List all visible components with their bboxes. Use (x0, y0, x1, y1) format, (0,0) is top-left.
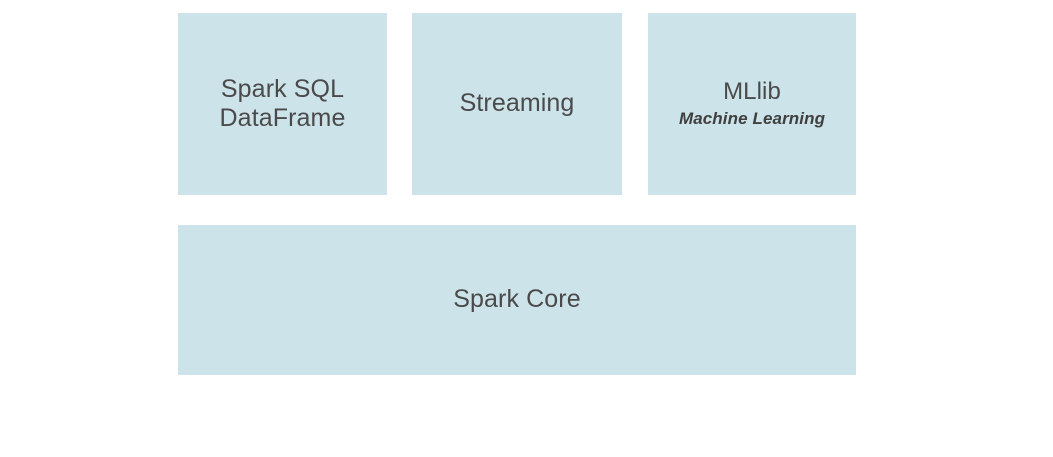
component-box-mllib[interactable]: MLlib Machine Learning (648, 13, 856, 195)
component-title-mllib: MLlib (723, 79, 781, 105)
component-box-streaming[interactable]: Streaming (412, 13, 622, 195)
component-subtitle-mllib: Machine Learning (679, 108, 825, 129)
spark-stack-diagram: Spark SQL DataFrame Streaming MLlib Mach… (0, 0, 1053, 457)
foundation-title-spark-core: Spark Core (453, 285, 580, 315)
component-title-streaming: Streaming (460, 89, 575, 119)
foundation-box-spark-core[interactable]: Spark Core (178, 225, 856, 375)
component-box-spark-sql[interactable]: Spark SQL DataFrame (178, 13, 387, 195)
component-title-spark-sql: Spark SQL DataFrame (220, 75, 346, 134)
